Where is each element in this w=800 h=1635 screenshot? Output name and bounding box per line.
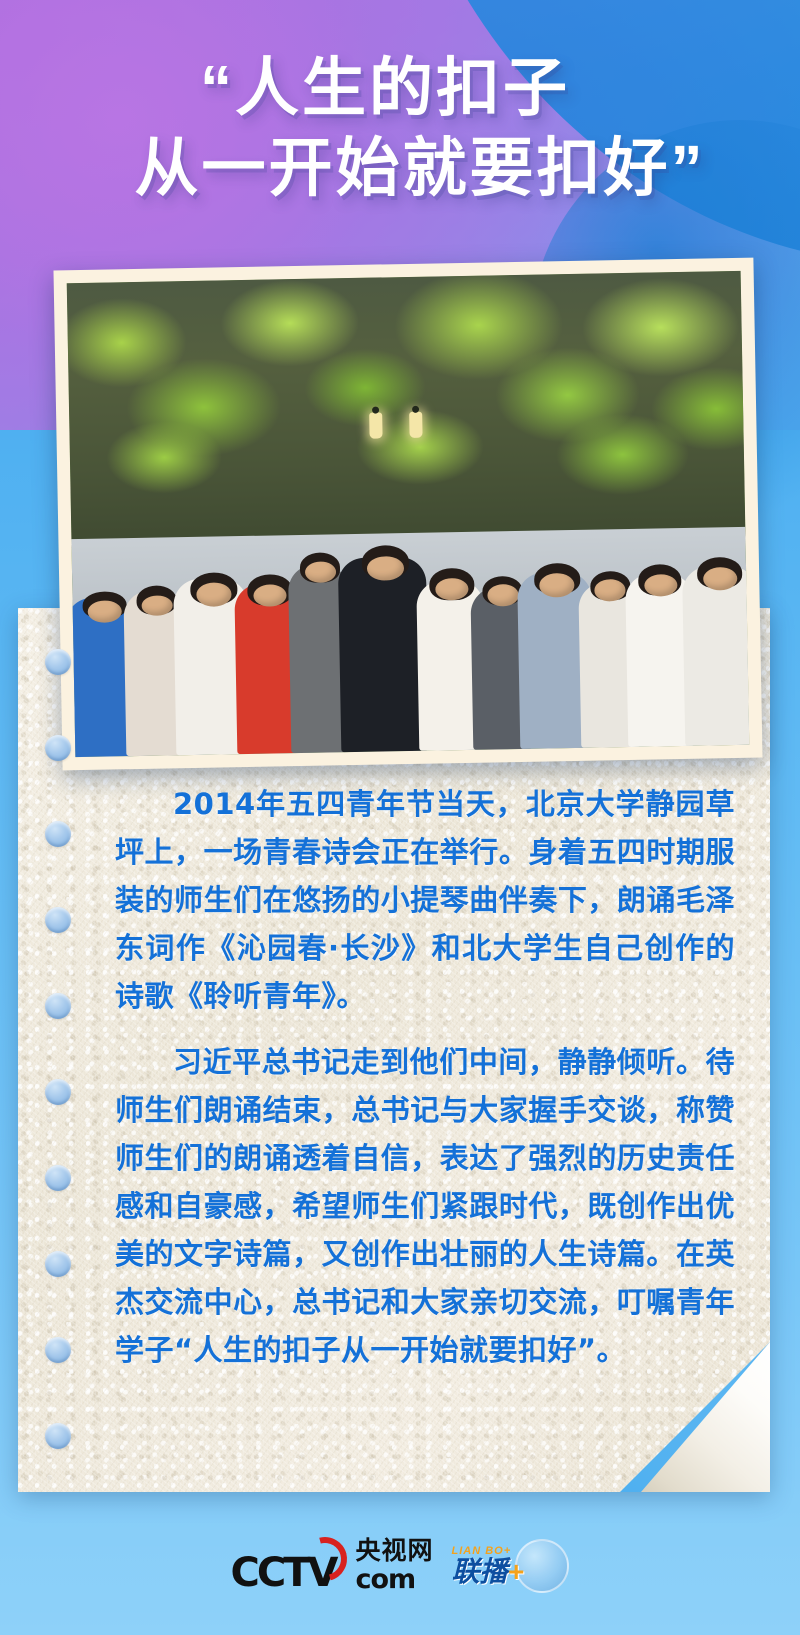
- punch-hole: [45, 1251, 71, 1277]
- lianbo-chinese-name: 联播+: [451, 1557, 569, 1587]
- lianbo-logo: LIAN BO+ 联播+: [451, 1541, 569, 1591]
- cctv-right-block: 央视网 com: [355, 1539, 433, 1593]
- title-line-1: “人生的扣子: [0, 48, 800, 128]
- article-paragraph: 习近平总书记走到他们中间，静静倾听。待师生们朗诵结束，总书记与大家握手交谈，称赞…: [115, 1038, 735, 1374]
- lamp-icon: [369, 413, 382, 439]
- photo-image: [67, 271, 750, 757]
- footer-logos: CCTV 央视网 com LIAN BO+ 联播+: [0, 1539, 800, 1593]
- poster-title: “人生的扣子 从一开始就要扣好”: [0, 48, 800, 208]
- punch-hole: [45, 821, 71, 847]
- lamp-icon: [409, 412, 422, 438]
- punch-hole: [45, 649, 71, 675]
- punch-hole: [45, 907, 71, 933]
- title-line-2: 从一开始就要扣好”: [0, 128, 800, 208]
- cctv-com-text: com: [355, 1566, 433, 1593]
- punch-hole: [45, 1079, 71, 1105]
- article-body: 2014年五四青年节当天，北京大学静园草坪上，一场青春诗会正在举行。身着五四时期…: [115, 780, 735, 1374]
- photo-frame: [53, 258, 762, 771]
- cctv-wordmark: CCTV: [231, 1553, 336, 1593]
- punch-hole: [45, 1165, 71, 1191]
- cctv-chinese-name: 央视网: [355, 1539, 433, 1564]
- punch-hole: [45, 735, 71, 761]
- poster-root: “人生的扣子 从一开始就要扣好”: [0, 0, 800, 1635]
- photo-card: [53, 258, 762, 771]
- punch-hole: [45, 1337, 71, 1363]
- punch-hole: [45, 1423, 71, 1449]
- article-paragraph: 2014年五四青年节当天，北京大学静园草坪上，一场青春诗会正在举行。身着五四时期…: [115, 780, 735, 1020]
- cctv-logo: CCTV 央视网 com: [231, 1539, 434, 1593]
- photo-crowd: [70, 451, 749, 757]
- punch-hole: [45, 993, 71, 1019]
